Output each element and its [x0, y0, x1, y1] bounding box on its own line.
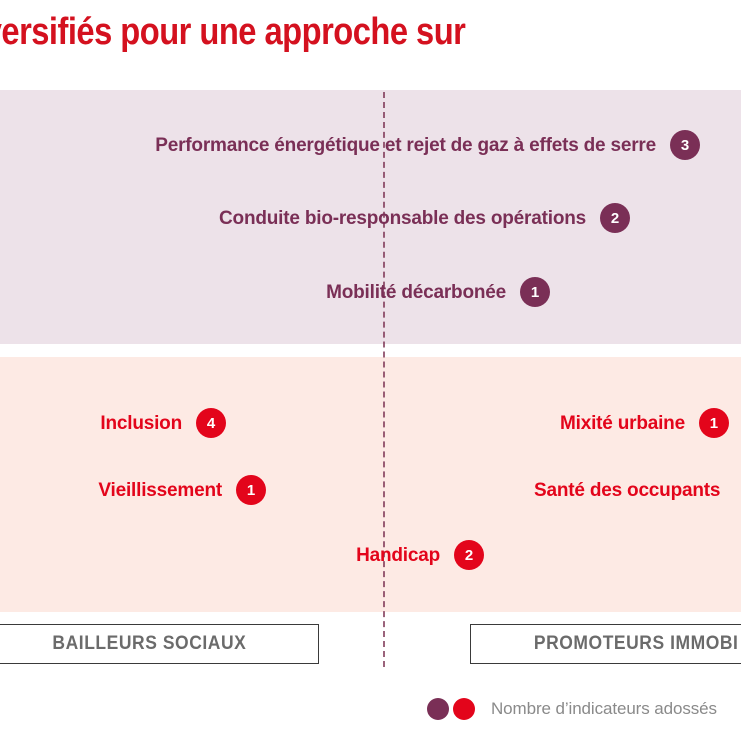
social-item-label: Santé des occupants [534, 481, 720, 500]
indicator-count-badge: 1 [520, 277, 550, 307]
legend-red-dot-icon [453, 698, 475, 720]
actor-box-promoteurs-immobiliers[interactable]: PROMOTEURS IMMOBI [470, 624, 741, 664]
indicator-count-badge: 1 [699, 408, 729, 438]
social-item-label: Mixité urbaine [560, 414, 685, 433]
social-item-sante-des-occupants[interactable]: Santé des occupants [534, 473, 720, 507]
title-bar: ères diversifiés pour une approche sur [0, 0, 741, 90]
social-item-inclusion[interactable]: Inclusion 4 [0, 406, 226, 440]
actor-box-bailleurs-sociaux[interactable]: BAILLEURS SOCIAUX [0, 624, 319, 664]
indicator-count-badge: 2 [600, 203, 630, 233]
center-dashed-divider [383, 92, 385, 667]
actor-label: PROMOTEURS IMMOBI [534, 633, 739, 655]
actor-label: BAILLEURS SOCIAUX [53, 633, 247, 655]
environment-item-label: Performance énergétique et rejet de gaz … [155, 136, 656, 155]
social-item-label: Handicap [356, 546, 440, 565]
environment-item-label: Conduite bio-responsable des opérations [219, 209, 586, 228]
social-item-handicap[interactable]: Handicap 2 [0, 538, 484, 572]
environment-item-label: Mobilité décarbonée [326, 283, 506, 302]
environment-item-performance-energetique[interactable]: Performance énergétique et rejet de gaz … [0, 128, 731, 162]
environment-item-mobilite-decarbonee[interactable]: Mobilité décarbonée 1 [0, 275, 731, 309]
indicator-count-badge: 2 [454, 540, 484, 570]
indicator-count-badge: 1 [236, 475, 266, 505]
social-item-vieillissement[interactable]: Vieillissement 1 [0, 473, 266, 507]
legend-purple-dot-icon [427, 698, 449, 720]
legend: Nombre d’indicateurs adossés [427, 694, 717, 724]
environment-item-conduite-bio-responsable[interactable]: Conduite bio-responsable des opérations … [0, 201, 731, 235]
page-title: ères diversifiés pour une approche sur [0, 11, 465, 54]
social-item-label: Vieillissement [98, 481, 222, 500]
indicator-count-badge: 3 [670, 130, 700, 160]
social-item-mixite-urbaine[interactable]: Mixité urbaine 1 [560, 406, 729, 440]
indicator-count-badge: 4 [196, 408, 226, 438]
social-item-label: Inclusion [100, 414, 182, 433]
legend-label: Nombre d’indicateurs adossés [491, 699, 717, 719]
